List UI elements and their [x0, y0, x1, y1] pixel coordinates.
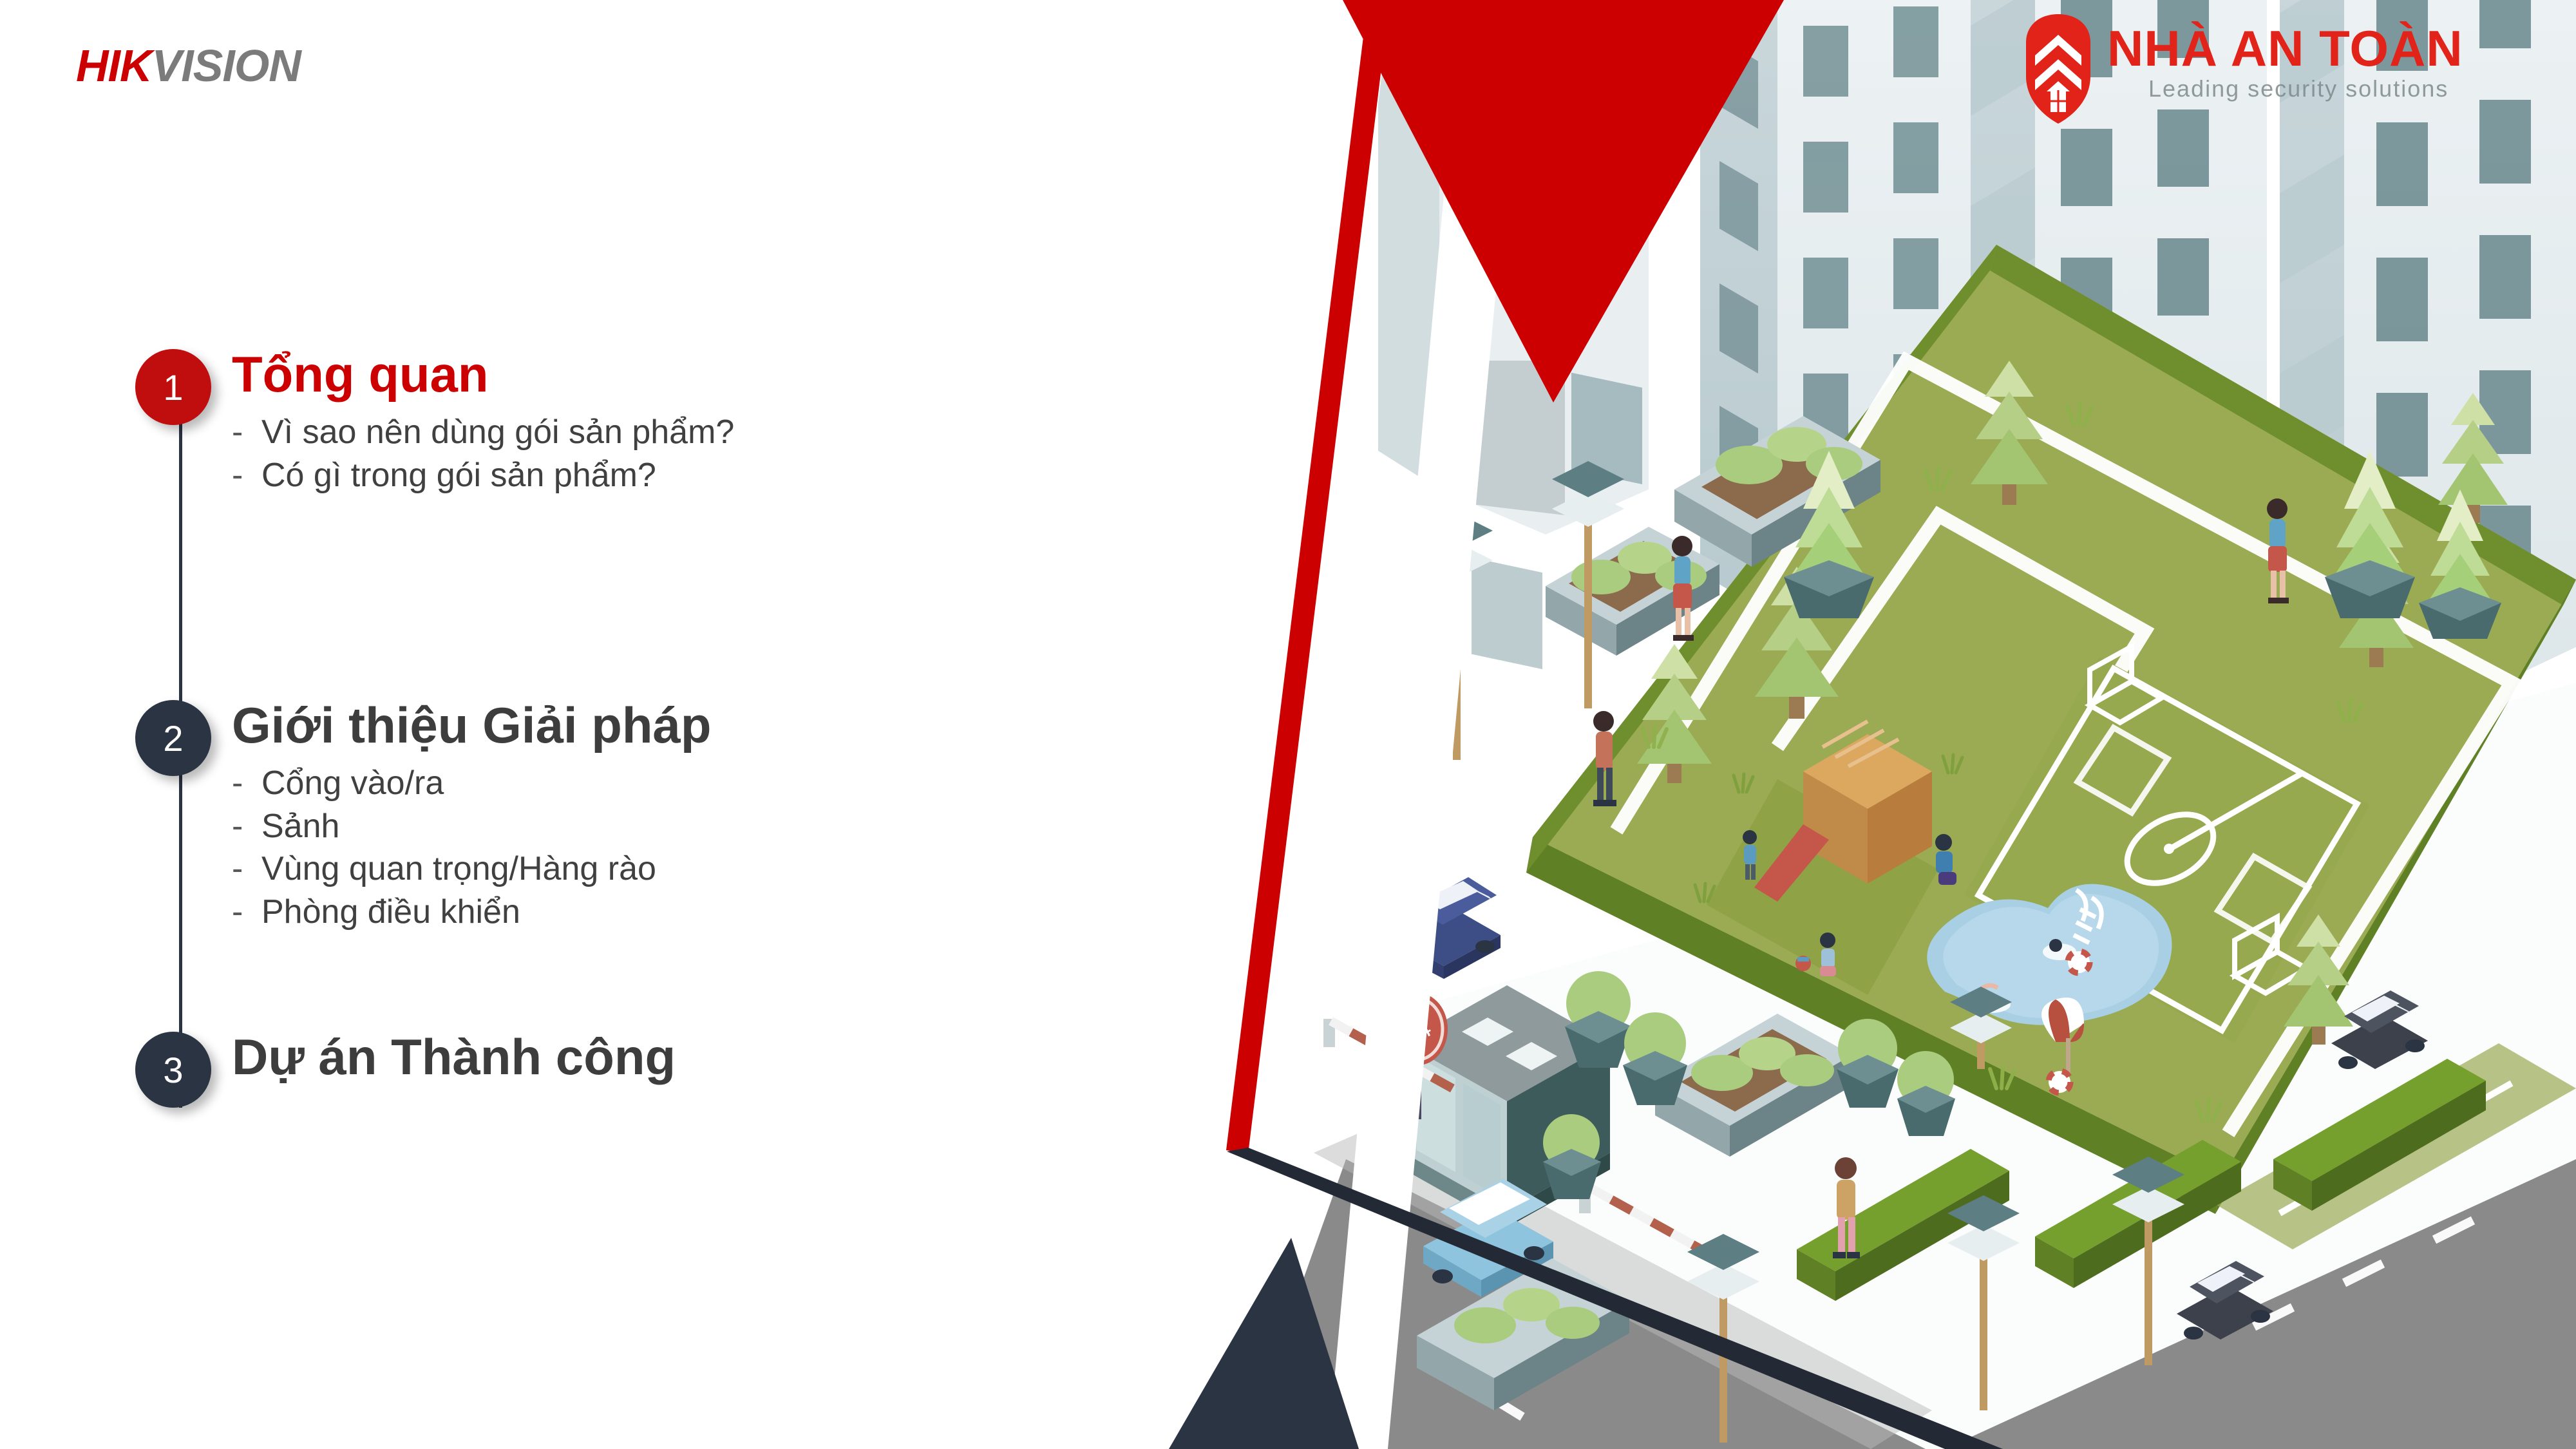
- agenda-bullet-text: Cổng vào/ra: [261, 762, 444, 805]
- pedestrian-figure: [1593, 711, 1616, 806]
- bullet-dash-icon: -: [232, 762, 261, 805]
- agenda-bullet-text: Vùng quan trọng/Hàng rào: [261, 848, 656, 891]
- pine-tree: [1637, 644, 1712, 783]
- agenda-bullet: - Cổng vào/ra: [232, 762, 712, 805]
- child-figure: [1795, 933, 1836, 976]
- play-structure: [1754, 721, 1932, 902]
- agenda-bullet-text: Phòng điều khiển: [261, 891, 520, 934]
- boom-barrier: [1579, 1184, 1715, 1260]
- red-diagonal-line: [1226, 0, 1390, 1154]
- agenda-section-3[interactable]: 3 Dự án Thành công: [135, 1030, 676, 1108]
- potted-shrub: [1623, 1012, 1687, 1105]
- hedge: [2035, 1140, 2241, 1288]
- parked-car: [2331, 990, 2428, 1069]
- agenda-bullet: - Phòng điều khiển: [232, 891, 712, 934]
- swimming-pool: [1927, 884, 2172, 1093]
- planter-box: [1417, 1258, 1629, 1410]
- potted-shrub: [1543, 1114, 1601, 1199]
- potted-shrub: [1837, 1019, 1899, 1108]
- agenda-badge-2[interactable]: 2: [135, 700, 211, 776]
- agenda-section-1[interactable]: 1 Tổng quan - Vì sao nên dùng gói sản ph…: [135, 348, 734, 497]
- no-entry-sign: 04: [1388, 993, 1448, 1119]
- svg-text:Leading security solutions: Leading security solutions: [2148, 75, 2448, 102]
- hedge: [1797, 1149, 2009, 1301]
- agenda-title-1: Tổng quan: [232, 349, 734, 399]
- agenda-body-1: Tổng quan - Vì sao nên dùng gói sản phẩm…: [232, 348, 734, 497]
- agenda-bullets-1: - Vì sao nên dùng gói sản phẩm? - Có gì …: [232, 411, 734, 497]
- potted-cone-tree: [1784, 451, 1874, 618]
- life-ring: [2068, 951, 2090, 973]
- agenda-title-2: Giới thiệu Giải pháp: [232, 700, 712, 750]
- agenda-bullet-text: Có gì trong gói sản phẩm?: [261, 454, 656, 497]
- svg-text:04: 04: [1399, 1015, 1435, 1051]
- bullet-dash-icon: -: [232, 805, 261, 848]
- red-triangle: [1343, 0, 1784, 402]
- agenda-title-3: Dự án Thành công: [232, 1032, 676, 1082]
- soccer-field: [1964, 647, 2370, 1043]
- parking-lot: [2215, 1043, 2576, 1249]
- beach-umbrella: [2041, 998, 2084, 1093]
- planter-box: [1655, 1014, 1852, 1157]
- hikvision-logo: HIKVISION: [76, 40, 301, 91]
- swimmer-figure: [2043, 939, 2076, 960]
- road: [1243, 1122, 2576, 1449]
- agenda-badge-3[interactable]: 3: [135, 1032, 211, 1108]
- agenda-section-2[interactable]: 2 Giới thiệu Giải pháp - Cổng vào/ra - S…: [135, 699, 712, 933]
- pine-tree: [2339, 528, 2414, 667]
- pedestrian-figure: [1672, 536, 1694, 641]
- agenda-bullet: - Sảnh: [232, 805, 712, 848]
- potted-cone-tree: [2325, 451, 2415, 618]
- agenda-bullet-text: Sảnh: [261, 805, 339, 848]
- entrance-gate: 04: [1323, 985, 1715, 1260]
- agenda-body-3: Dự án Thành công: [232, 1030, 676, 1082]
- parked-car: [2177, 1261, 2273, 1340]
- agenda-bullet: - Vì sao nên dùng gói sản phẩm?: [232, 411, 734, 454]
- apartment-tower: [1700, 0, 1971, 663]
- pine-tree: [1971, 361, 2048, 505]
- shield-house-icon: [2026, 14, 2090, 124]
- agenda-badge-3-number: 3: [163, 1049, 183, 1091]
- car-blue: [1397, 877, 1501, 979]
- potted-shrub: [1897, 1051, 1955, 1136]
- green-platform: [1526, 245, 2576, 1214]
- apartment-tower: [1971, 0, 2267, 773]
- svg-text:NHÀ AN TOÀN: NHÀ AN TOÀN: [2107, 20, 2463, 77]
- decor-diagonals: [1169, 0, 2003, 1449]
- bullet-dash-icon: -: [232, 454, 261, 497]
- logo-vision-text: VISION: [152, 41, 301, 91]
- pedestrian-figure: [2267, 498, 2289, 603]
- partner-logo: NHÀ AN TOÀN Leading security solutions: [2026, 14, 2463, 124]
- apartment-tower: [2280, 0, 2576, 702]
- swimmer-figure: [1972, 985, 2011, 1013]
- playground: [1695, 721, 1962, 995]
- street-lamp: [1421, 513, 1493, 760]
- bullet-dash-icon: -: [232, 411, 261, 454]
- planter-box: [1546, 527, 1719, 656]
- agenda-bullet: - Có gì trong gói sản phẩm?: [232, 454, 734, 497]
- agenda-badge-1[interactable]: 1: [135, 349, 211, 425]
- agenda-bullet: - Vùng quan trọng/Hàng rào: [232, 848, 712, 891]
- slide-root: 04: [0, 0, 2576, 1449]
- adult-figure: [1935, 834, 1956, 885]
- building-block: [1378, 0, 1649, 669]
- street-lamp: [2112, 1157, 2184, 1365]
- street-lamp: [1687, 1234, 1759, 1443]
- street-lamp: [1552, 461, 1624, 708]
- pine-tree: [1755, 567, 1839, 719]
- agenda-bullets-2: - Cổng vào/ra - Sảnh - Vùng quan trọng/H…: [232, 762, 712, 933]
- van-blue: [1423, 1179, 1553, 1297]
- pine-tree: [2438, 393, 2508, 523]
- navy-diagonal-line: [1227, 1148, 2003, 1449]
- pedestrian-figure: [1833, 1157, 1860, 1258]
- street-lamp: [1950, 987, 2012, 1069]
- navy-triangle: [1169, 1238, 1359, 1449]
- guard-house: [1404, 985, 1610, 1227]
- boom-barrier: [1323, 1017, 1455, 1092]
- pine-tree: [2284, 914, 2353, 1045]
- agenda-badge-1-number: 1: [163, 366, 183, 408]
- agenda-badge-2-number: 2: [163, 717, 183, 759]
- planter-box: [1674, 416, 1880, 567]
- logo-hik-text: HIK: [76, 41, 152, 91]
- agenda-bullet-text: Vì sao nên dùng gói sản phẩm?: [261, 411, 734, 454]
- potted-cone-tree: [2419, 489, 2501, 639]
- bullet-dash-icon: -: [232, 848, 261, 891]
- bullet-dash-icon: -: [232, 891, 261, 934]
- agenda-body-2: Giới thiệu Giải pháp - Cổng vào/ra - Sản…: [232, 699, 712, 933]
- street-lamp: [1947, 1195, 2020, 1410]
- potted-shrub: [1565, 971, 1632, 1068]
- child-figure: [1743, 830, 1757, 880]
- hedge: [2273, 1059, 2486, 1211]
